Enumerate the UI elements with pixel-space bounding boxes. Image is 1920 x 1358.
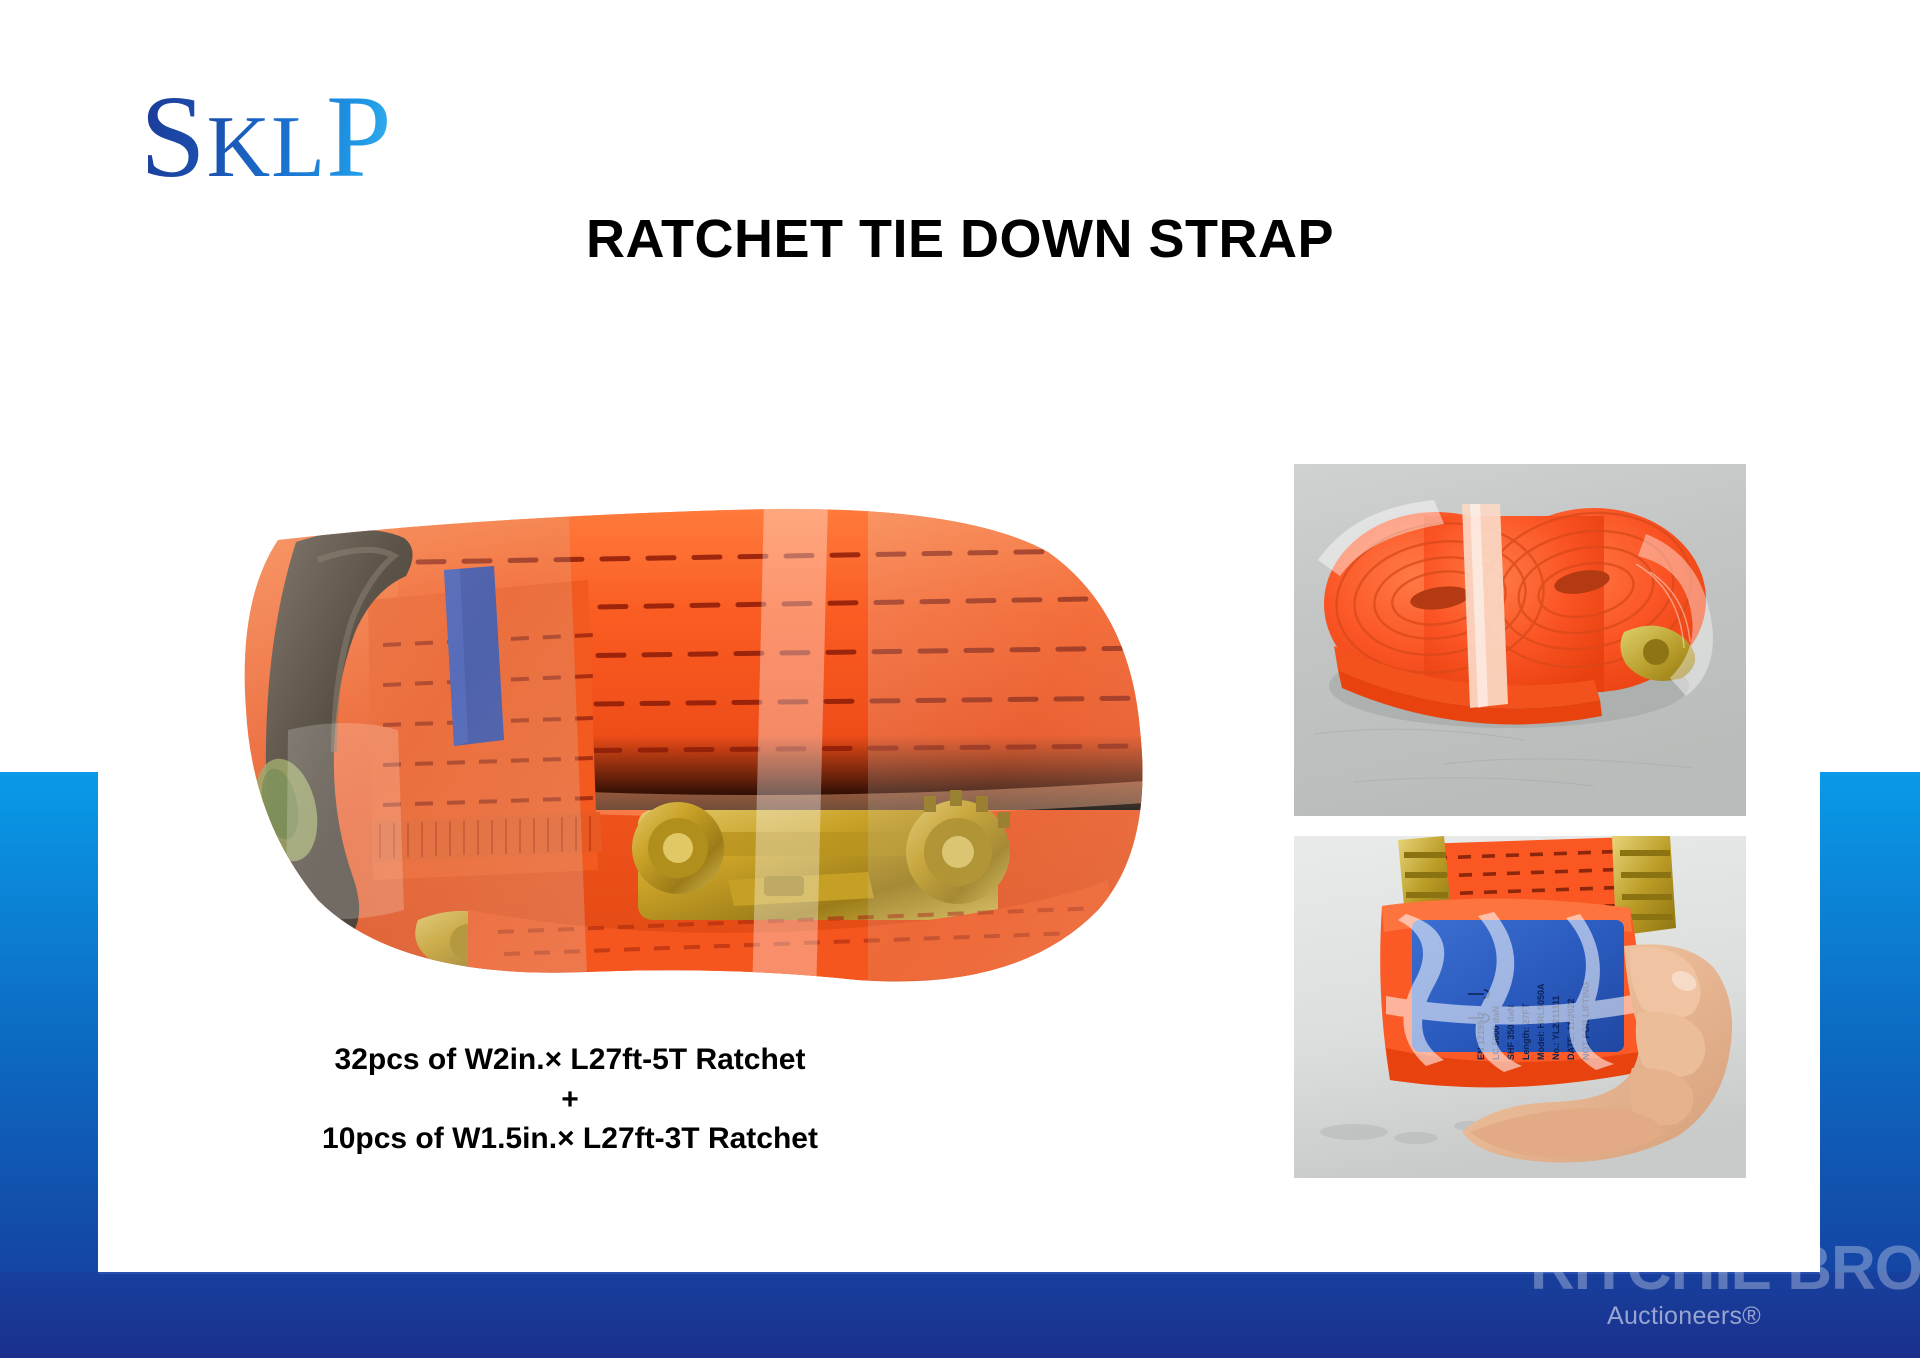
- brand-logo-letter-p: P: [326, 71, 393, 202]
- product-caption: 32pcs of W2in.× L27ft-5T Ratchet + 10pcs…: [120, 1040, 1020, 1159]
- caption-line-3: 10pcs of W1.5in.× L27ft-3T Ratchet: [120, 1119, 1020, 1159]
- decor-bar-bottom-separator: [98, 1272, 1820, 1274]
- hero-photo-art: [168, 480, 1178, 1000]
- hero-product-photo: [168, 480, 1178, 1000]
- thumbnail-coiled-strap-art: [1294, 464, 1746, 816]
- brand-logo-letter-k: K: [207, 99, 272, 196]
- decor-bar-left: [0, 772, 98, 1358]
- brand-logo: SKLP: [140, 78, 393, 196]
- slide-canvas: SKLP RATCHET TIE DOWN STRAP: [0, 0, 1920, 1358]
- decor-bar-right: [1820, 772, 1920, 1358]
- caption-line-2: +: [120, 1080, 1020, 1120]
- brand-logo-letter-s: S: [140, 71, 207, 202]
- thumbnail-label-in-hand-art: EN 12195-2 LC 5000 daN SHF 350 daN Lengt…: [1294, 836, 1746, 1178]
- brand-logo-letter-l: L: [271, 99, 326, 196]
- thumbnail-coiled-strap[interactable]: [1294, 464, 1746, 816]
- page-title: RATCHET TIE DOWN STRAP: [0, 208, 1920, 270]
- decor-bar-bottom: [0, 1272, 1920, 1358]
- thumbnail-label-in-hand[interactable]: EN 12195-2 LC 5000 daN SHF 350 daN Lengt…: [1294, 836, 1746, 1178]
- caption-line-1: 32pcs of W2in.× L27ft-5T Ratchet: [120, 1040, 1020, 1080]
